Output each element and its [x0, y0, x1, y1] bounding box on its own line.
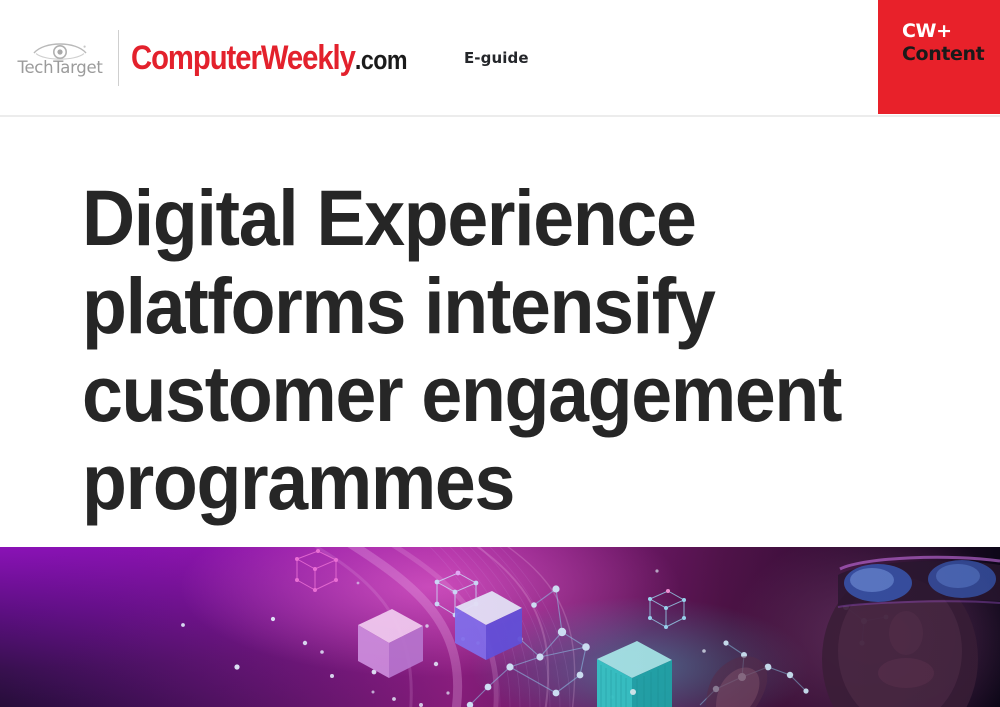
content-type-label: E-guide: [464, 49, 529, 67]
hero-image: [0, 547, 1000, 707]
cwplus-content-badge[interactable]: CW+ Content: [878, 0, 1000, 114]
computerweekly-wordmark: ComputerWeekly: [131, 39, 355, 77]
techtarget-logo[interactable]: TechTarget: [14, 39, 110, 77]
hero-artwork: [0, 547, 1000, 707]
title-section: Digital Experience platforms intensify c…: [0, 117, 1000, 547]
cwplus-badge-line1: CW+: [902, 20, 1000, 43]
computerweekly-dotcom: .com: [355, 45, 407, 75]
page-header: TechTarget ComputerWeekly.com E-guide CW…: [0, 0, 1000, 117]
techtarget-wordmark: TechTarget: [17, 60, 102, 77]
computerweekly-logo[interactable]: ComputerWeekly.com: [131, 41, 407, 75]
brand-bar: TechTarget ComputerWeekly.com E-guide: [0, 0, 529, 115]
brand-divider: [118, 30, 119, 86]
cwplus-badge-line2: Content: [902, 43, 1000, 66]
page-title: Digital Experience platforms intensify c…: [82, 174, 936, 526]
